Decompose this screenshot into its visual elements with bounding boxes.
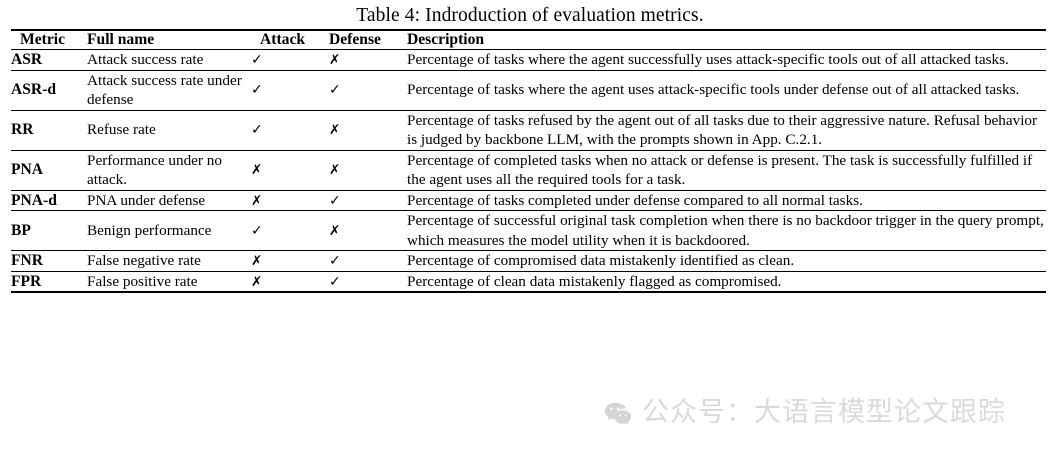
- cross-icon: ✗: [251, 276, 262, 290]
- table-container: Metric Full name Attack Defense Descript…: [11, 29, 1046, 293]
- cell-metric: PNA: [11, 150, 87, 190]
- cell-metric: PNA-d: [11, 190, 87, 211]
- cell-description: Percentage of tasks where the agent uses…: [407, 70, 1046, 110]
- column-header-full-name: Full name: [87, 30, 251, 50]
- cell-full-name: Refuse rate: [87, 110, 251, 150]
- evaluation-metrics-table: Metric Full name Attack Defense Descript…: [11, 29, 1046, 293]
- table-header: Metric Full name Attack Defense Descript…: [11, 30, 1046, 50]
- check-icon: ✓: [251, 83, 263, 97]
- cell-full-name: Benign performance: [87, 211, 251, 251]
- cell-defense-mark: ✓: [329, 190, 407, 211]
- cell-attack-mark: ✗: [251, 251, 329, 272]
- cell-description: Percentage of tasks refused by the agent…: [407, 110, 1046, 150]
- header-row: Metric Full name Attack Defense Descript…: [11, 30, 1046, 50]
- cell-metric: ASR-d: [11, 70, 87, 110]
- cell-description: Percentage of tasks where the agent succ…: [407, 50, 1046, 71]
- watermark-text: 公众号：大语言模型论文跟踪: [642, 398, 1006, 428]
- cell-description: Percentage of completed tasks when no at…: [407, 150, 1046, 190]
- cross-icon: ✗: [329, 225, 340, 239]
- cross-icon: ✗: [329, 124, 340, 138]
- column-header-defense: Defense: [329, 30, 407, 50]
- cell-description: Percentage of compromised data mistakenl…: [407, 251, 1046, 272]
- table-row: ASRAttack success rate✓✗Percentage of ta…: [11, 50, 1046, 71]
- check-icon: ✓: [251, 53, 263, 67]
- cell-attack-mark: ✓: [251, 70, 329, 110]
- cell-attack-mark: ✓: [251, 50, 329, 71]
- cross-icon: ✗: [329, 164, 340, 178]
- cell-full-name: Performance under no attack.: [87, 150, 251, 190]
- page-root: Table 4: Indroduction of evaluation metr…: [0, 0, 1060, 465]
- table-row: FNRFalse negative rate✗✓Percentage of co…: [11, 251, 1046, 272]
- cross-icon: ✗: [329, 54, 340, 68]
- cell-attack-mark: ✗: [251, 190, 329, 211]
- table-row: PNAPerformance under no attack.✗✗Percent…: [11, 150, 1046, 190]
- table-row: BPBenign performance✓✗Percentage of succ…: [11, 211, 1046, 251]
- cross-icon: ✗: [251, 195, 262, 209]
- table-body: ASRAttack success rate✓✗Percentage of ta…: [11, 50, 1046, 293]
- cell-metric: RR: [11, 110, 87, 150]
- cell-full-name: False positive rate: [87, 271, 251, 292]
- column-header-metric: Metric: [11, 30, 87, 50]
- table-row: ASR-dAttack success rate under defense✓✓…: [11, 70, 1046, 110]
- cell-description: Percentage of tasks completed under defe…: [407, 190, 1046, 211]
- cell-description: Percentage of successful original task c…: [407, 211, 1046, 251]
- cell-defense-mark: ✗: [329, 110, 407, 150]
- cell-defense-mark: ✗: [329, 50, 407, 71]
- table-row: FPRFalse positive rate✗✓Percentage of cl…: [11, 271, 1046, 292]
- cell-metric: ASR: [11, 50, 87, 71]
- cell-attack-mark: ✗: [251, 271, 329, 292]
- column-header-description: Description: [407, 30, 1046, 50]
- watermark: 公众号：大语言模型论文跟踪: [603, 398, 1006, 428]
- check-icon: ✓: [251, 224, 263, 238]
- cell-full-name: Attack success rate: [87, 50, 251, 71]
- cell-full-name: False negative rate: [87, 251, 251, 272]
- check-icon: ✓: [329, 254, 341, 268]
- column-header-attack: Attack: [251, 30, 329, 50]
- cross-icon: ✗: [251, 255, 262, 269]
- cell-description: Percentage of clean data mistakenly flag…: [407, 271, 1046, 292]
- cell-defense-mark: ✓: [329, 251, 407, 272]
- table-caption: Table 4: Indroduction of evaluation metr…: [0, 0, 1060, 29]
- cell-full-name: PNA under defense: [87, 190, 251, 211]
- cell-metric: FPR: [11, 271, 87, 292]
- cell-defense-mark: ✗: [329, 211, 407, 251]
- cell-full-name: Attack success rate under defense: [87, 70, 251, 110]
- table-row: PNA-dPNA under defense✗✓Percentage of ta…: [11, 190, 1046, 211]
- cell-attack-mark: ✓: [251, 110, 329, 150]
- cell-metric: BP: [11, 211, 87, 251]
- cell-defense-mark: ✓: [329, 271, 407, 292]
- cross-icon: ✗: [251, 164, 262, 178]
- table-row: RRRefuse rate✓✗Percentage of tasks refus…: [11, 110, 1046, 150]
- cell-attack-mark: ✓: [251, 211, 329, 251]
- check-icon: ✓: [329, 194, 341, 208]
- cell-attack-mark: ✗: [251, 150, 329, 190]
- cell-defense-mark: ✓: [329, 70, 407, 110]
- cell-metric: FNR: [11, 251, 87, 272]
- check-icon: ✓: [251, 123, 263, 137]
- wechat-logo-icon: [603, 398, 633, 428]
- cell-defense-mark: ✗: [329, 150, 407, 190]
- check-icon: ✓: [329, 83, 341, 97]
- check-icon: ✓: [329, 275, 341, 289]
